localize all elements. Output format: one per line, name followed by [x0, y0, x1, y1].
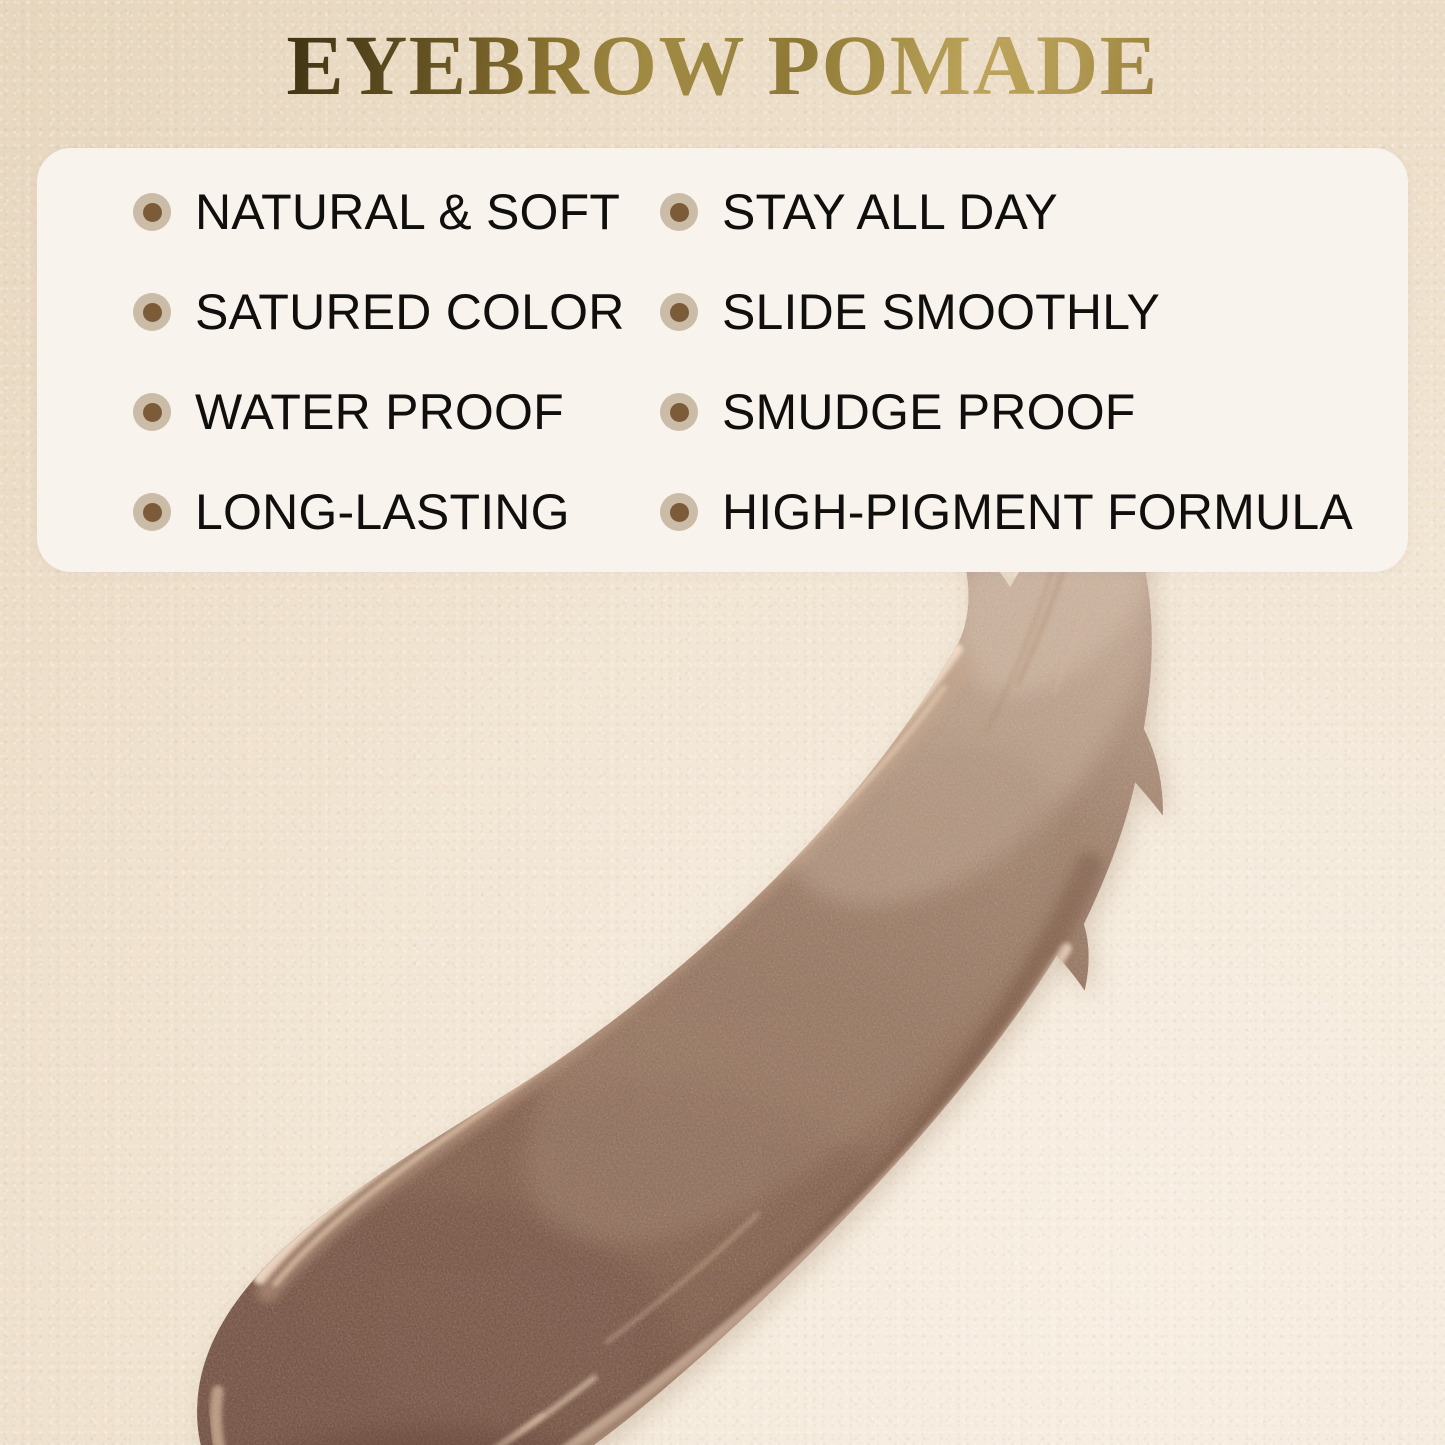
bullet-dot-icon	[133, 393, 171, 431]
page-title: EYEBROW POMADE	[286, 22, 1158, 110]
bullet-dot-icon	[660, 293, 698, 331]
bullet-dot-icon	[133, 493, 171, 531]
bullet-dot-icon	[660, 393, 698, 431]
feature-item-long-lasting: LONG-LASTING	[37, 462, 604, 562]
product-swatch-area	[0, 560, 1445, 1445]
feature-label: LONG-LASTING	[195, 487, 570, 537]
feature-item-smudge-proof: SMUDGE PROOF	[604, 362, 1408, 462]
product-feature-page: EYEBROW POMADE NATURAL & SOFT STAY ALL D…	[0, 0, 1445, 1445]
feature-label: HIGH-PIGMENT FORMULA	[722, 487, 1353, 537]
feature-item-natural-soft: NATURAL & SOFT	[37, 162, 604, 262]
eyebrow-pomade-swatch	[0, 560, 1445, 1445]
feature-item-stay-all-day: STAY ALL DAY	[604, 162, 1408, 262]
bullet-dot-icon	[660, 493, 698, 531]
feature-label: SMUDGE PROOF	[722, 387, 1136, 437]
feature-grid: NATURAL & SOFT STAY ALL DAY SATURED COLO…	[37, 148, 1408, 572]
feature-label: SATURED COLOR	[195, 287, 625, 337]
page-title-container: EYEBROW POMADE	[0, 22, 1445, 110]
feature-label: NATURAL & SOFT	[195, 187, 620, 237]
feature-item-high-pigment-formula: HIGH-PIGMENT FORMULA	[604, 462, 1408, 562]
feature-item-water-proof: WATER PROOF	[37, 362, 604, 462]
bullet-dot-icon	[133, 293, 171, 331]
swatch-body	[0, 560, 1445, 1445]
bullet-dot-icon	[133, 193, 171, 231]
feature-label: SLIDE SMOOTHLY	[722, 287, 1160, 337]
bullet-dot-icon	[660, 193, 698, 231]
feature-label: STAY ALL DAY	[722, 187, 1058, 237]
feature-list-card: NATURAL & SOFT STAY ALL DAY SATURED COLO…	[37, 148, 1408, 572]
feature-item-slide-smoothly: SLIDE SMOOTHLY	[604, 262, 1408, 362]
feature-item-satured-color: SATURED COLOR	[37, 262, 604, 362]
feature-label: WATER PROOF	[195, 387, 564, 437]
